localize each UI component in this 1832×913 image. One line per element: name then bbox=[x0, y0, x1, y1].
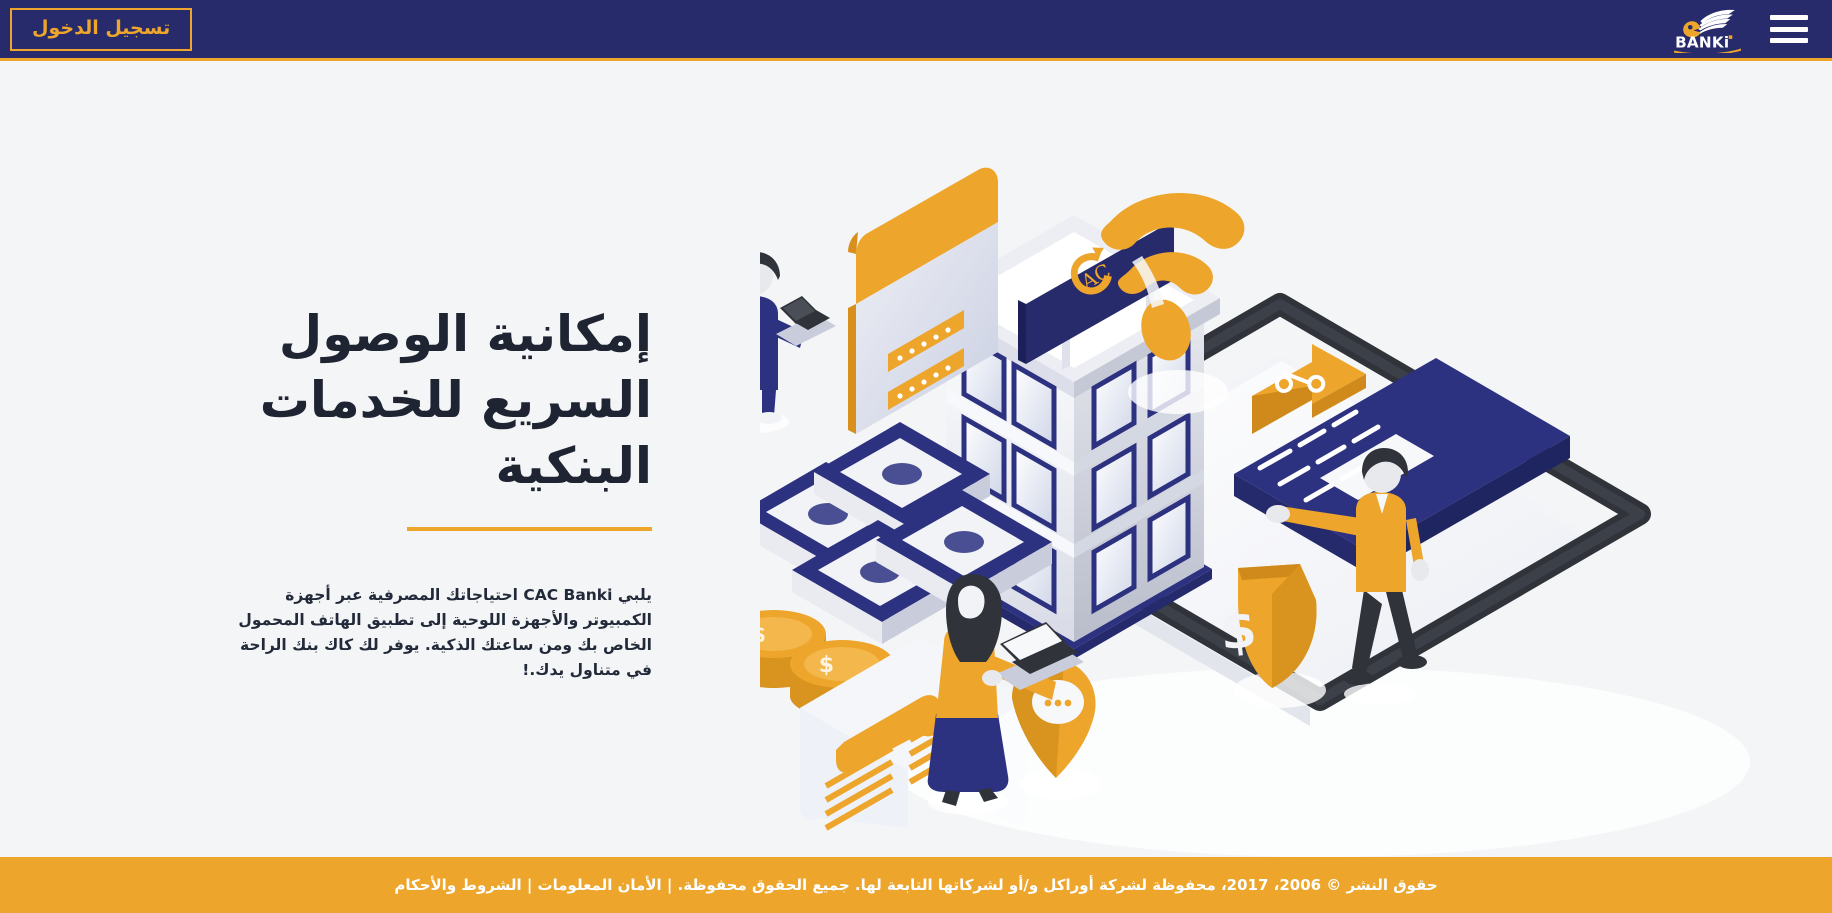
hamburger-bar-1 bbox=[1770, 15, 1808, 20]
svg-text:$: $ bbox=[1217, 599, 1259, 662]
hero-section: إمكانية الوصول السريع للخدمات البنكية يل… bbox=[0, 61, 1832, 854]
title-line-1: إمكانية الوصول bbox=[279, 305, 652, 363]
site-footer: حقوق النشر © 2006، 2017، محفوظة لشركة أو… bbox=[0, 857, 1832, 913]
header-right-group: BANKi bbox=[1670, 6, 1808, 52]
banki-logo[interactable]: BANKi bbox=[1670, 6, 1746, 52]
hamburger-menu-icon[interactable] bbox=[1770, 15, 1808, 43]
hero-description: يلبي CAC Banki احتياجاتك المصرفية عبر أج… bbox=[232, 583, 652, 683]
banki-logo-icon: BANKi bbox=[1670, 6, 1746, 53]
person-with-laptop-left bbox=[760, 252, 836, 433]
login-button[interactable]: تسجيل الدخول bbox=[10, 8, 192, 51]
page-title: إمكانية الوصول السريع للخدمات البنكية bbox=[232, 301, 652, 499]
banking-illustration: AC bbox=[760, 122, 1832, 882]
svg-text:$: $ bbox=[819, 653, 834, 678]
copyright-text: حقوق النشر © 2006، 2017، محفوظة لشركة أو… bbox=[394, 876, 1437, 894]
title-line-2: السريع للخدمات bbox=[260, 371, 652, 429]
svg-text:$: $ bbox=[760, 623, 766, 648]
svg-text:BANKi: BANKi bbox=[1675, 34, 1729, 52]
site-header: تسجيل الدخول BANKi bbox=[0, 0, 1832, 61]
hamburger-bar-2 bbox=[1770, 27, 1808, 32]
hero-text-block: إمكانية الوصول السريع للخدمات البنكية يل… bbox=[232, 301, 652, 683]
title-line-3: البنكية bbox=[495, 437, 652, 495]
hamburger-bar-3 bbox=[1770, 38, 1808, 43]
title-divider bbox=[407, 527, 652, 531]
